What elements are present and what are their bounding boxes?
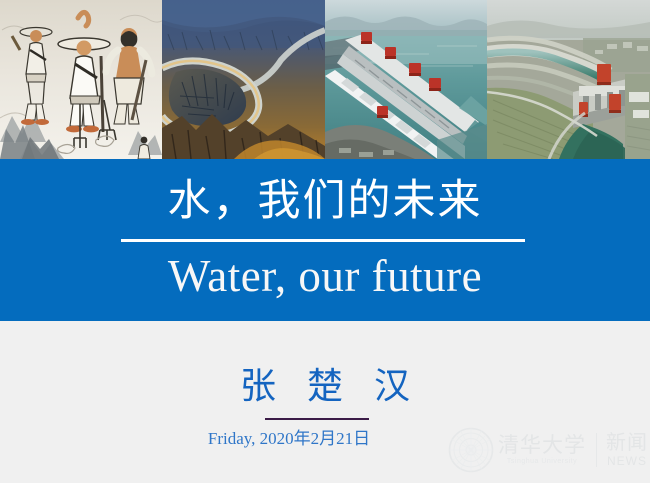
title-chinese: 水，我们的未来 [0, 175, 650, 227]
news-wordmark: 新闻 NEWS [606, 432, 648, 468]
image-yu-the-great-ink-painting [0, 0, 162, 159]
image-three-gorges-dam [325, 0, 487, 159]
tsinghua-university-wordmark: 清华大学 Tsinghua University [498, 433, 586, 467]
presenter-divider-rule [265, 418, 369, 420]
news-label-en: NEWS [606, 454, 648, 468]
tsinghua-university-cn: 清华大学 [498, 433, 586, 457]
title-english: Water, our future [0, 247, 650, 305]
image-yellow-river-meander [162, 0, 325, 159]
presenter-name: 张 楚 汉 [229, 365, 421, 407]
watermark-divider [596, 433, 597, 467]
title-banner: 水，我们的未来 Water, our future [0, 159, 650, 321]
presentation-slide: 水，我们的未来 Water, our future 张 楚 汉 Friday, … [0, 0, 650, 483]
photo-strip [0, 0, 650, 159]
tsinghua-news-watermark: 清华大学 Tsinghua University 新闻 NEWS [448, 424, 638, 476]
title-divider-rule [121, 239, 525, 242]
image-water-diversion-canal [487, 0, 650, 159]
tsinghua-seal-icon [448, 427, 494, 473]
tsinghua-university-en: Tsinghua University [498, 457, 586, 467]
presenter-name-wrap: 张 楚 汉 [0, 365, 650, 407]
news-label-cn: 新闻 [606, 432, 648, 454]
